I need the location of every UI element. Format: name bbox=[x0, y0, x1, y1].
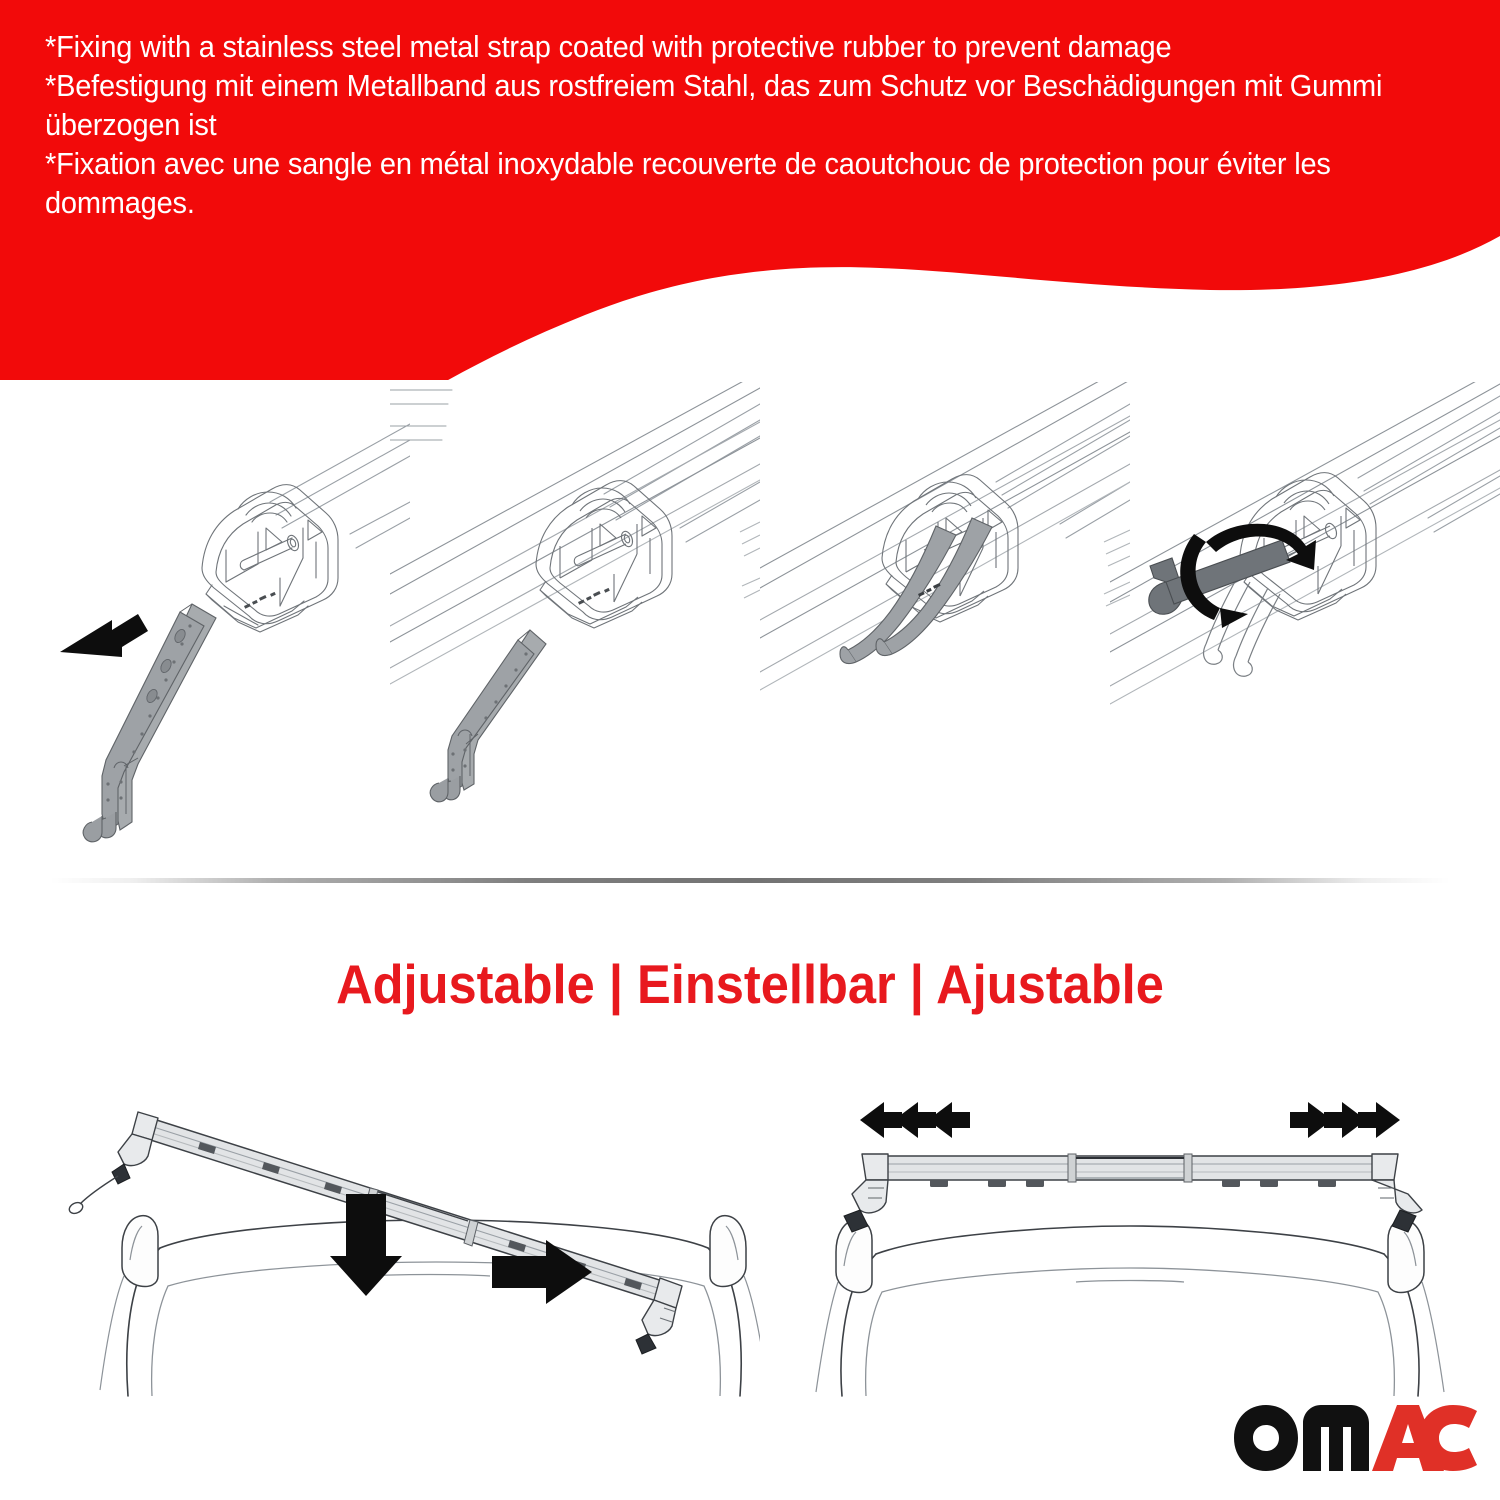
banner-bullet-text: *Fixing with a stainless steel metal str… bbox=[45, 28, 1394, 223]
logo-letter-m bbox=[1303, 1405, 1369, 1471]
adjustable-headline: Adjustable | Einstellbar | Ajustable bbox=[60, 952, 1440, 1016]
product-infographic: *Fixing with a stainless steel metal str… bbox=[0, 0, 1500, 1500]
wrapped-strap bbox=[840, 518, 992, 664]
step-panel-1 bbox=[20, 382, 410, 852]
feature-banner: *Fixing with a stainless steel metal str… bbox=[0, 0, 1500, 380]
installation-steps bbox=[0, 382, 1500, 852]
step-panel-2 bbox=[390, 382, 760, 852]
metal-strap bbox=[430, 630, 546, 802]
width-adjust-diagram bbox=[790, 1080, 1470, 1400]
step-panel-3 bbox=[760, 382, 1130, 852]
logo-letter-o bbox=[1234, 1405, 1298, 1471]
omac-logo bbox=[1233, 1395, 1478, 1483]
step-1-illustration bbox=[20, 382, 410, 852]
omac-logo-mark bbox=[1233, 1395, 1478, 1483]
crossbar bbox=[844, 1154, 1422, 1232]
up-arrow-icon bbox=[60, 614, 148, 657]
triple-right-arrow-icon bbox=[1290, 1102, 1400, 1138]
step-2-illustration bbox=[390, 382, 760, 852]
wrapped-strap bbox=[1204, 576, 1280, 676]
width-adjust-illustration bbox=[790, 1080, 1470, 1400]
adjustment-diagrams bbox=[0, 1080, 1500, 1400]
triple-left-arrow-icon bbox=[860, 1102, 970, 1138]
placement-illustration bbox=[40, 1080, 760, 1400]
section-divider bbox=[50, 878, 1450, 883]
placement-diagram bbox=[40, 1080, 760, 1400]
step-panel-4 bbox=[1110, 382, 1500, 852]
step-3-illustration bbox=[760, 382, 1130, 852]
step-4-illustration bbox=[1110, 382, 1500, 852]
